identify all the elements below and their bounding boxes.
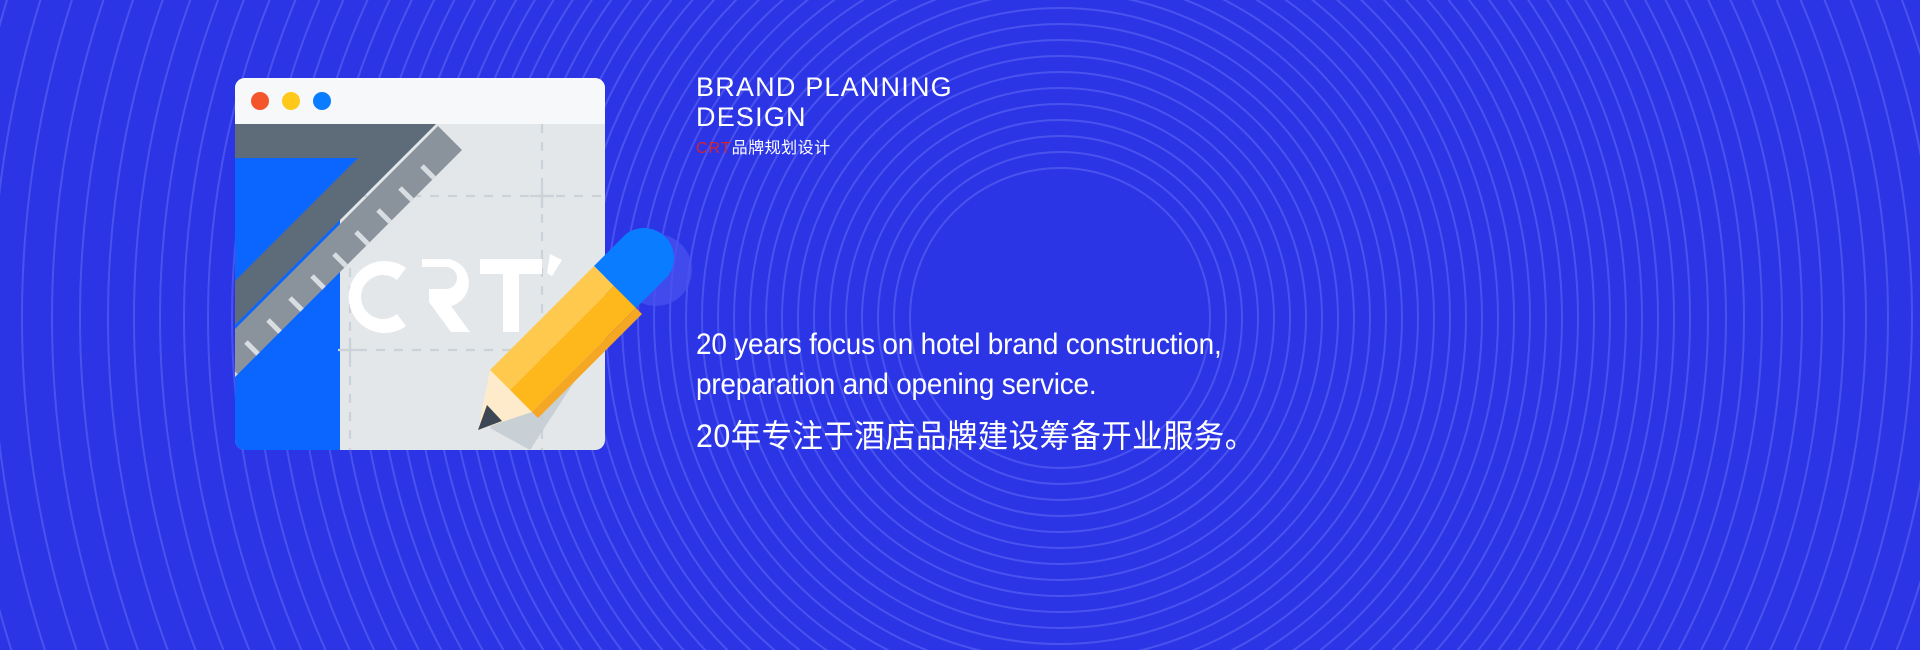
subheading-brand: CRT bbox=[696, 140, 732, 157]
window-dot-red-icon bbox=[251, 92, 269, 110]
subheading-chinese: 品牌规划设计 bbox=[732, 140, 831, 157]
tagline-cn-line: 20年专注于酒店品牌建设筹备开业服务。 bbox=[696, 413, 1361, 459]
tagline-en-line-2: preparation and opening service. bbox=[696, 365, 1347, 405]
subheading: CRT品牌规划设计 bbox=[696, 139, 953, 159]
window-dot-blue-icon bbox=[313, 92, 331, 110]
heading-block: BRAND PLANNING DESIGN CRT品牌规划设计 bbox=[696, 72, 953, 159]
brand-design-illustration bbox=[190, 78, 690, 478]
tagline-block: 20 years focus on hotel brand constructi… bbox=[696, 325, 1396, 459]
window-dot-yellow-icon bbox=[282, 92, 300, 110]
brand-banner: BRAND PLANNING DESIGN CRT品牌规划设计 20 years… bbox=[0, 0, 1920, 650]
tagline-en-line-1: 20 years focus on hotel brand constructi… bbox=[696, 325, 1347, 365]
banner-text-column: BRAND PLANNING DESIGN CRT品牌规划设计 20 years… bbox=[696, 0, 1796, 650]
heading-line-2: DESIGN bbox=[696, 102, 953, 132]
heading-line-1: BRAND PLANNING bbox=[696, 72, 953, 102]
